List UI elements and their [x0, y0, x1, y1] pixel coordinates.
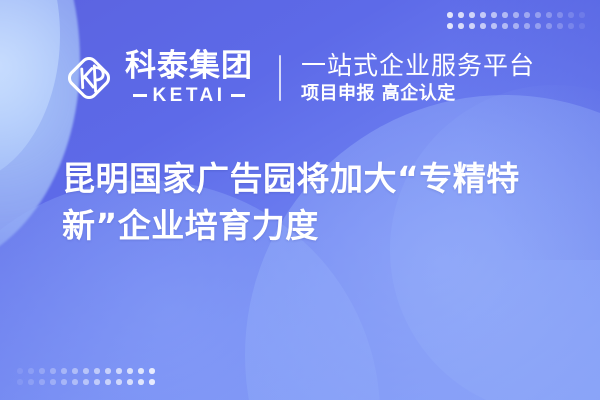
decorative-dot — [568, 12, 574, 18]
decorative-dot — [513, 23, 519, 29]
decorative-dot — [535, 12, 541, 18]
decorative-dot — [17, 379, 23, 385]
decorative-dot — [83, 368, 89, 374]
headline-text: 昆明国家广告园将加大“专精特新”企业培育力度 — [62, 156, 562, 250]
decorative-dot — [138, 379, 144, 385]
decorative-dot — [39, 368, 45, 374]
decorative-dot — [50, 368, 56, 374]
decorative-dot — [28, 379, 34, 385]
decorative-dot — [94, 379, 100, 385]
decorative-dot — [469, 23, 475, 29]
decorative-dot — [535, 23, 541, 29]
header-taglines: 一站式企业服务平台 项目申报 高企认定 — [301, 51, 535, 105]
dot-grid-bottom-left — [16, 367, 156, 386]
decorative-dot — [502, 23, 508, 29]
decorative-dot — [39, 379, 45, 385]
decorative-dot — [458, 12, 464, 18]
decorative-dot — [480, 23, 486, 29]
decorative-dot — [83, 379, 89, 385]
decorative-dot — [568, 23, 574, 29]
dot-grid-top-right — [446, 11, 586, 30]
decorative-dot — [28, 368, 34, 374]
decorative-dot — [513, 12, 519, 18]
background-blob-top-left-inner — [0, 0, 60, 185]
promo-banner: 科泰集团 KETAI 一站式企业服务平台 项目申报 高企认定 昆明国家广告园将加… — [0, 0, 600, 400]
decorative-dot — [546, 23, 552, 29]
decorative-dot — [94, 368, 100, 374]
decorative-dot — [502, 12, 508, 18]
decorative-dot — [546, 12, 552, 18]
decorative-dot — [579, 23, 585, 29]
decorative-dot — [524, 23, 530, 29]
decorative-dot — [458, 23, 464, 29]
logo-chinese-name: 科泰集团 — [125, 51, 253, 82]
ketai-logo: 科泰集团 KETAI — [62, 51, 253, 105]
decorative-dot — [447, 23, 453, 29]
decorative-dot — [480, 12, 486, 18]
decorative-dot — [50, 379, 56, 385]
decorative-dot — [138, 368, 144, 374]
decorative-dot — [127, 368, 133, 374]
header-divider — [279, 55, 281, 101]
decorative-dot — [447, 12, 453, 18]
decorative-dot — [116, 368, 122, 374]
decorative-dot — [491, 12, 497, 18]
logo-rule-right — [231, 94, 245, 97]
decorative-dot — [105, 379, 111, 385]
decorative-dot — [127, 379, 133, 385]
decorative-dot — [116, 379, 122, 385]
logo-english-row: KETAI — [125, 86, 253, 105]
decorative-dot — [469, 12, 475, 18]
decorative-dot — [524, 12, 530, 18]
decorative-dot — [61, 379, 67, 385]
decorative-dot — [491, 23, 497, 29]
decorative-dot — [72, 379, 78, 385]
decorative-dot — [557, 23, 563, 29]
decorative-dot — [557, 12, 563, 18]
banner-header: 科泰集团 KETAI 一站式企业服务平台 项目申报 高企认定 — [62, 40, 535, 116]
logo-wordmarks: 科泰集团 KETAI — [125, 51, 253, 105]
tagline-primary: 一站式企业服务平台 — [301, 51, 535, 80]
decorative-dot — [149, 379, 155, 385]
decorative-dot — [149, 368, 155, 374]
decorative-dot — [579, 12, 585, 18]
logo-english-name: KETAI — [152, 86, 225, 105]
ketai-diamond-monogram-icon — [62, 51, 116, 105]
tagline-secondary: 项目申报 高企认定 — [301, 82, 535, 105]
decorative-dot — [17, 368, 23, 374]
decorative-dot — [105, 368, 111, 374]
logo-rule-left — [133, 94, 147, 97]
decorative-dot — [61, 368, 67, 374]
decorative-dot — [72, 368, 78, 374]
